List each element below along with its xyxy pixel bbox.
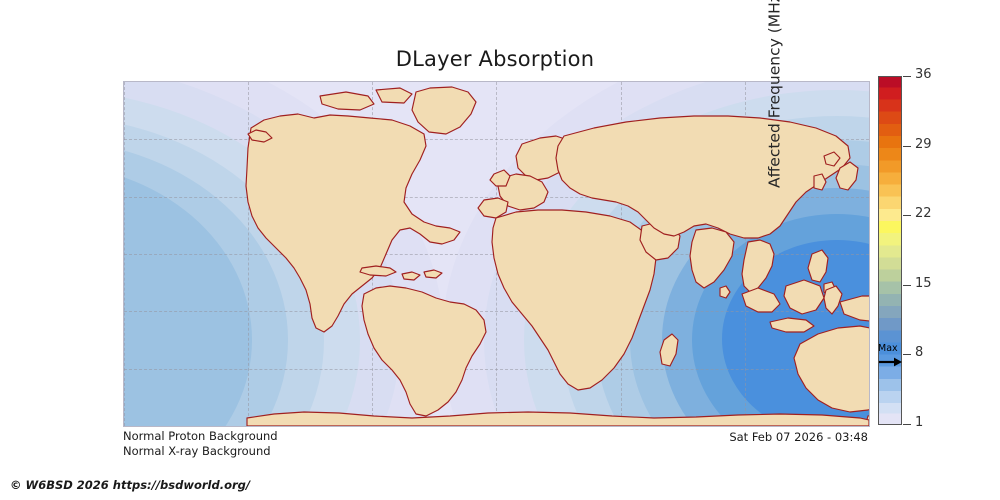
tick-label: 15 xyxy=(915,277,932,290)
max-absorption-marker: Max xyxy=(878,346,902,372)
colorbar[interactable]: 36 29 22 15 8 1 Max xyxy=(878,76,902,425)
tick-mark xyxy=(903,146,911,147)
colorbar-gradient xyxy=(878,76,902,425)
arrow-right-icon xyxy=(878,357,902,367)
colorbar-axis-label: Affected Frequency (MHz) xyxy=(763,0,787,263)
xray-background-status: Normal X-ray Background xyxy=(123,444,278,459)
page-title: DLayer Absorption xyxy=(0,47,990,71)
tick-mark xyxy=(903,424,911,425)
max-marker-label: Max xyxy=(878,344,898,354)
footer-credit: © W6BSD 2026 https://bsdworld.org/ xyxy=(10,478,250,492)
tick-mark xyxy=(903,215,911,216)
coastlines-layer xyxy=(124,82,869,426)
tick-label: 22 xyxy=(915,207,932,220)
tick-mark xyxy=(903,76,911,77)
status-annotations: Normal Proton Background Normal X-ray Ba… xyxy=(123,429,278,459)
tick-label: 1 xyxy=(915,416,923,429)
tick-label: 8 xyxy=(915,346,923,359)
world-map-panel[interactable] xyxy=(123,81,870,427)
tick-mark xyxy=(903,354,911,355)
timestamp-label: Sat Feb 07 2026 - 03:48 xyxy=(400,430,868,444)
tick-label: 29 xyxy=(915,138,932,151)
proton-background-status: Normal Proton Background xyxy=(123,429,278,444)
tick-mark xyxy=(903,285,911,286)
tick-label: 36 xyxy=(915,68,932,81)
